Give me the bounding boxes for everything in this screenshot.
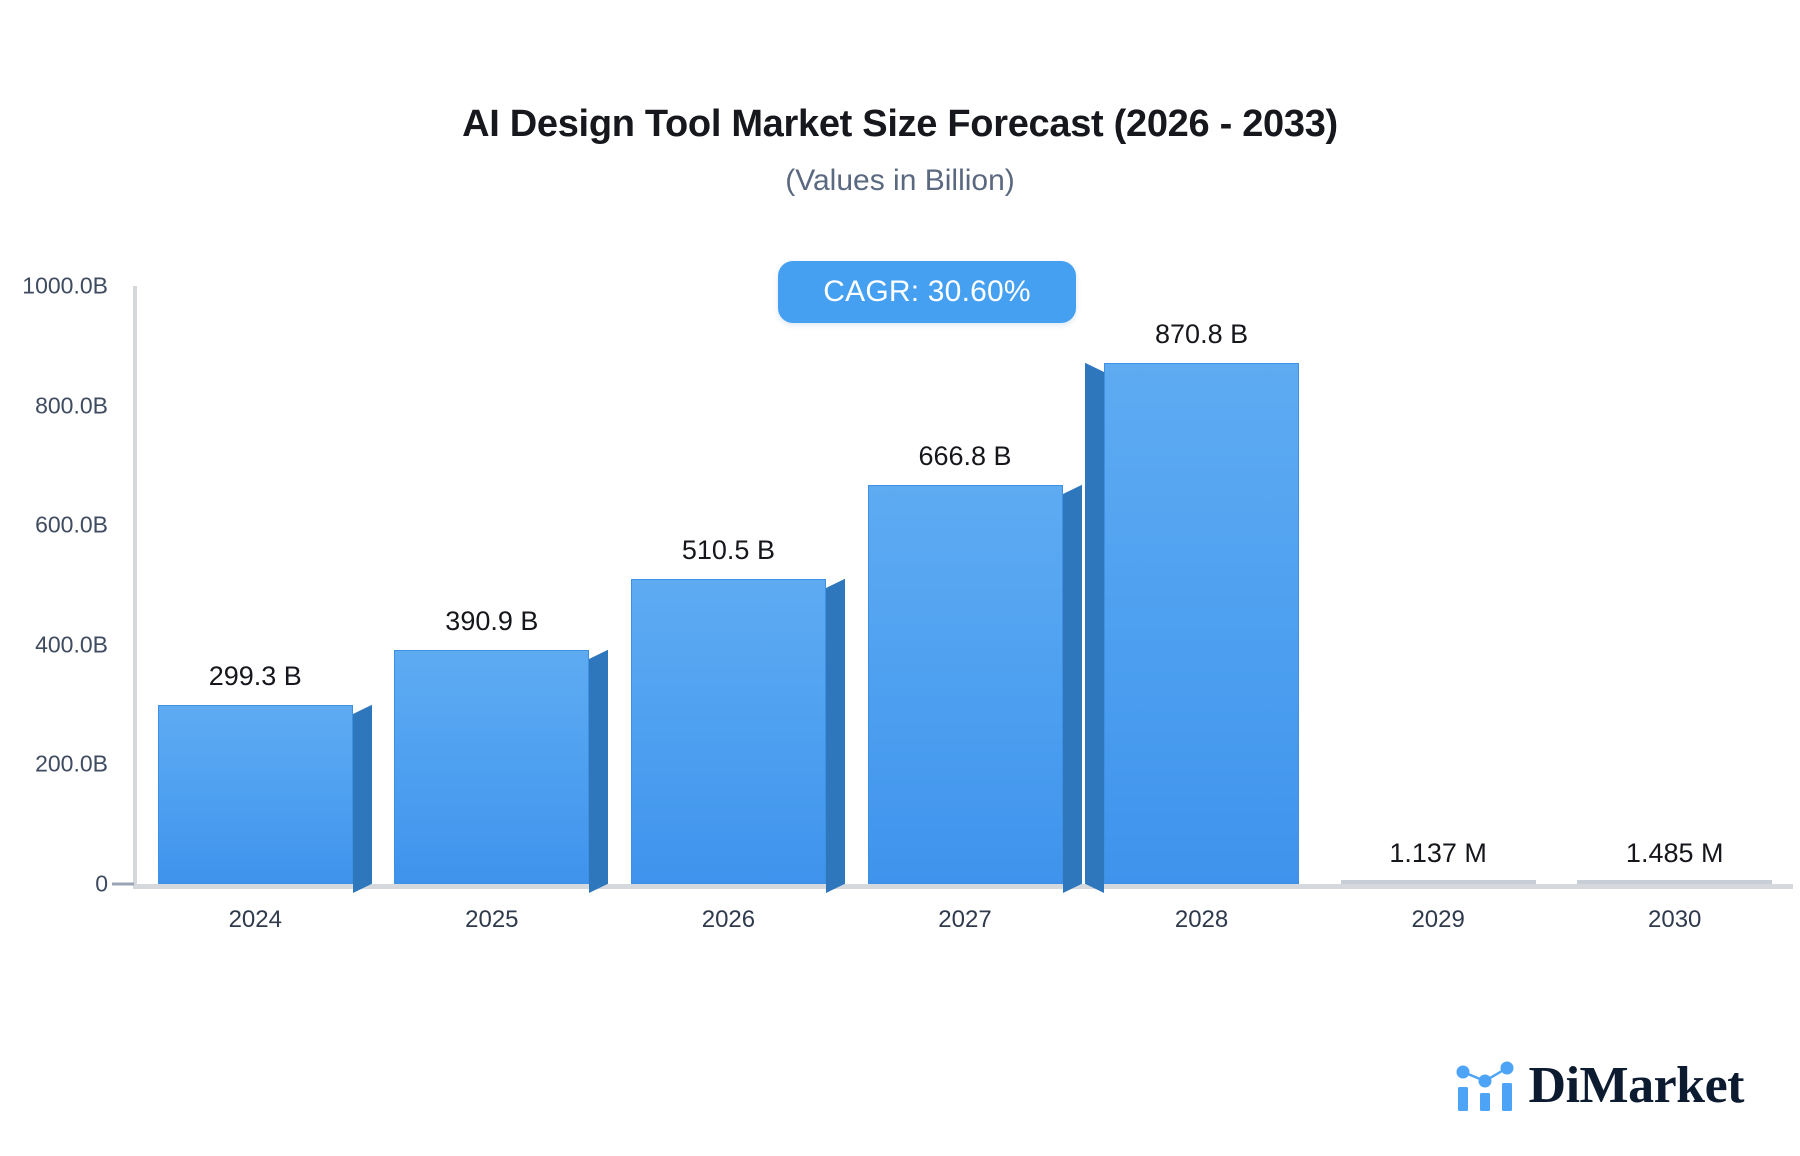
bar [1577,880,1772,884]
y-axis-tick-label: 400.0B [0,631,108,658]
chart-plot-area: 0200.0B400.0B600.0B800.0B1000.0B 2024202… [0,0,1800,1156]
bar-front-face [868,485,1063,884]
y-axis-tick-mark [112,883,134,886]
bar-value-label: 666.8 B [815,441,1115,472]
y-axis-tick-label: 200.0B [0,751,108,778]
x-axis-tick-label: 2030 [1575,906,1775,934]
bar-chart-logo-icon [1455,1059,1515,1113]
bar [394,650,589,884]
x-axis-tick-label: 2026 [628,906,828,934]
bar-3d-side-face [1085,363,1104,893]
bar-3d-side-face [1063,485,1082,893]
x-axis-tick-label: 2029 [1338,906,1538,934]
x-axis-tick-label: 2027 [865,906,1065,934]
bar-front-face [394,650,589,884]
bar-value-label: 510.5 B [578,535,878,566]
bar-front-face [158,705,353,884]
bar-3d-side-face [353,705,372,893]
x-axis-tick-label: 2028 [1102,906,1302,934]
bar-value-label: 299.3 B [105,661,405,692]
bar [1104,363,1299,884]
bar-value-label: 1.485 M [1525,838,1800,869]
bar-value-label: 870.8 B [1052,319,1352,350]
x-axis-line [133,884,1793,889]
y-axis-tick-label: 1000.0B [0,273,108,300]
bar-3d-side-face [826,578,845,893]
brand-logo: DiMarket [1455,1059,1744,1113]
bar [631,579,826,884]
bar-front-face [1104,363,1299,884]
x-axis-tick-label: 2025 [392,906,592,934]
bar [868,485,1063,884]
x-axis-tick-label: 2024 [155,906,355,934]
y-axis-line [133,286,137,885]
bar-3d-side-face [589,650,608,893]
bar [158,705,353,884]
bar [1341,880,1536,884]
y-axis-tick-label: 800.0B [0,392,108,419]
y-axis-tick-label: 0 [0,871,108,898]
bar-value-label: 390.9 B [342,606,642,637]
bar-front-face [631,579,826,884]
brand-logo-text: DiMarket [1529,1060,1744,1112]
y-axis-tick-label: 600.0B [0,512,108,539]
